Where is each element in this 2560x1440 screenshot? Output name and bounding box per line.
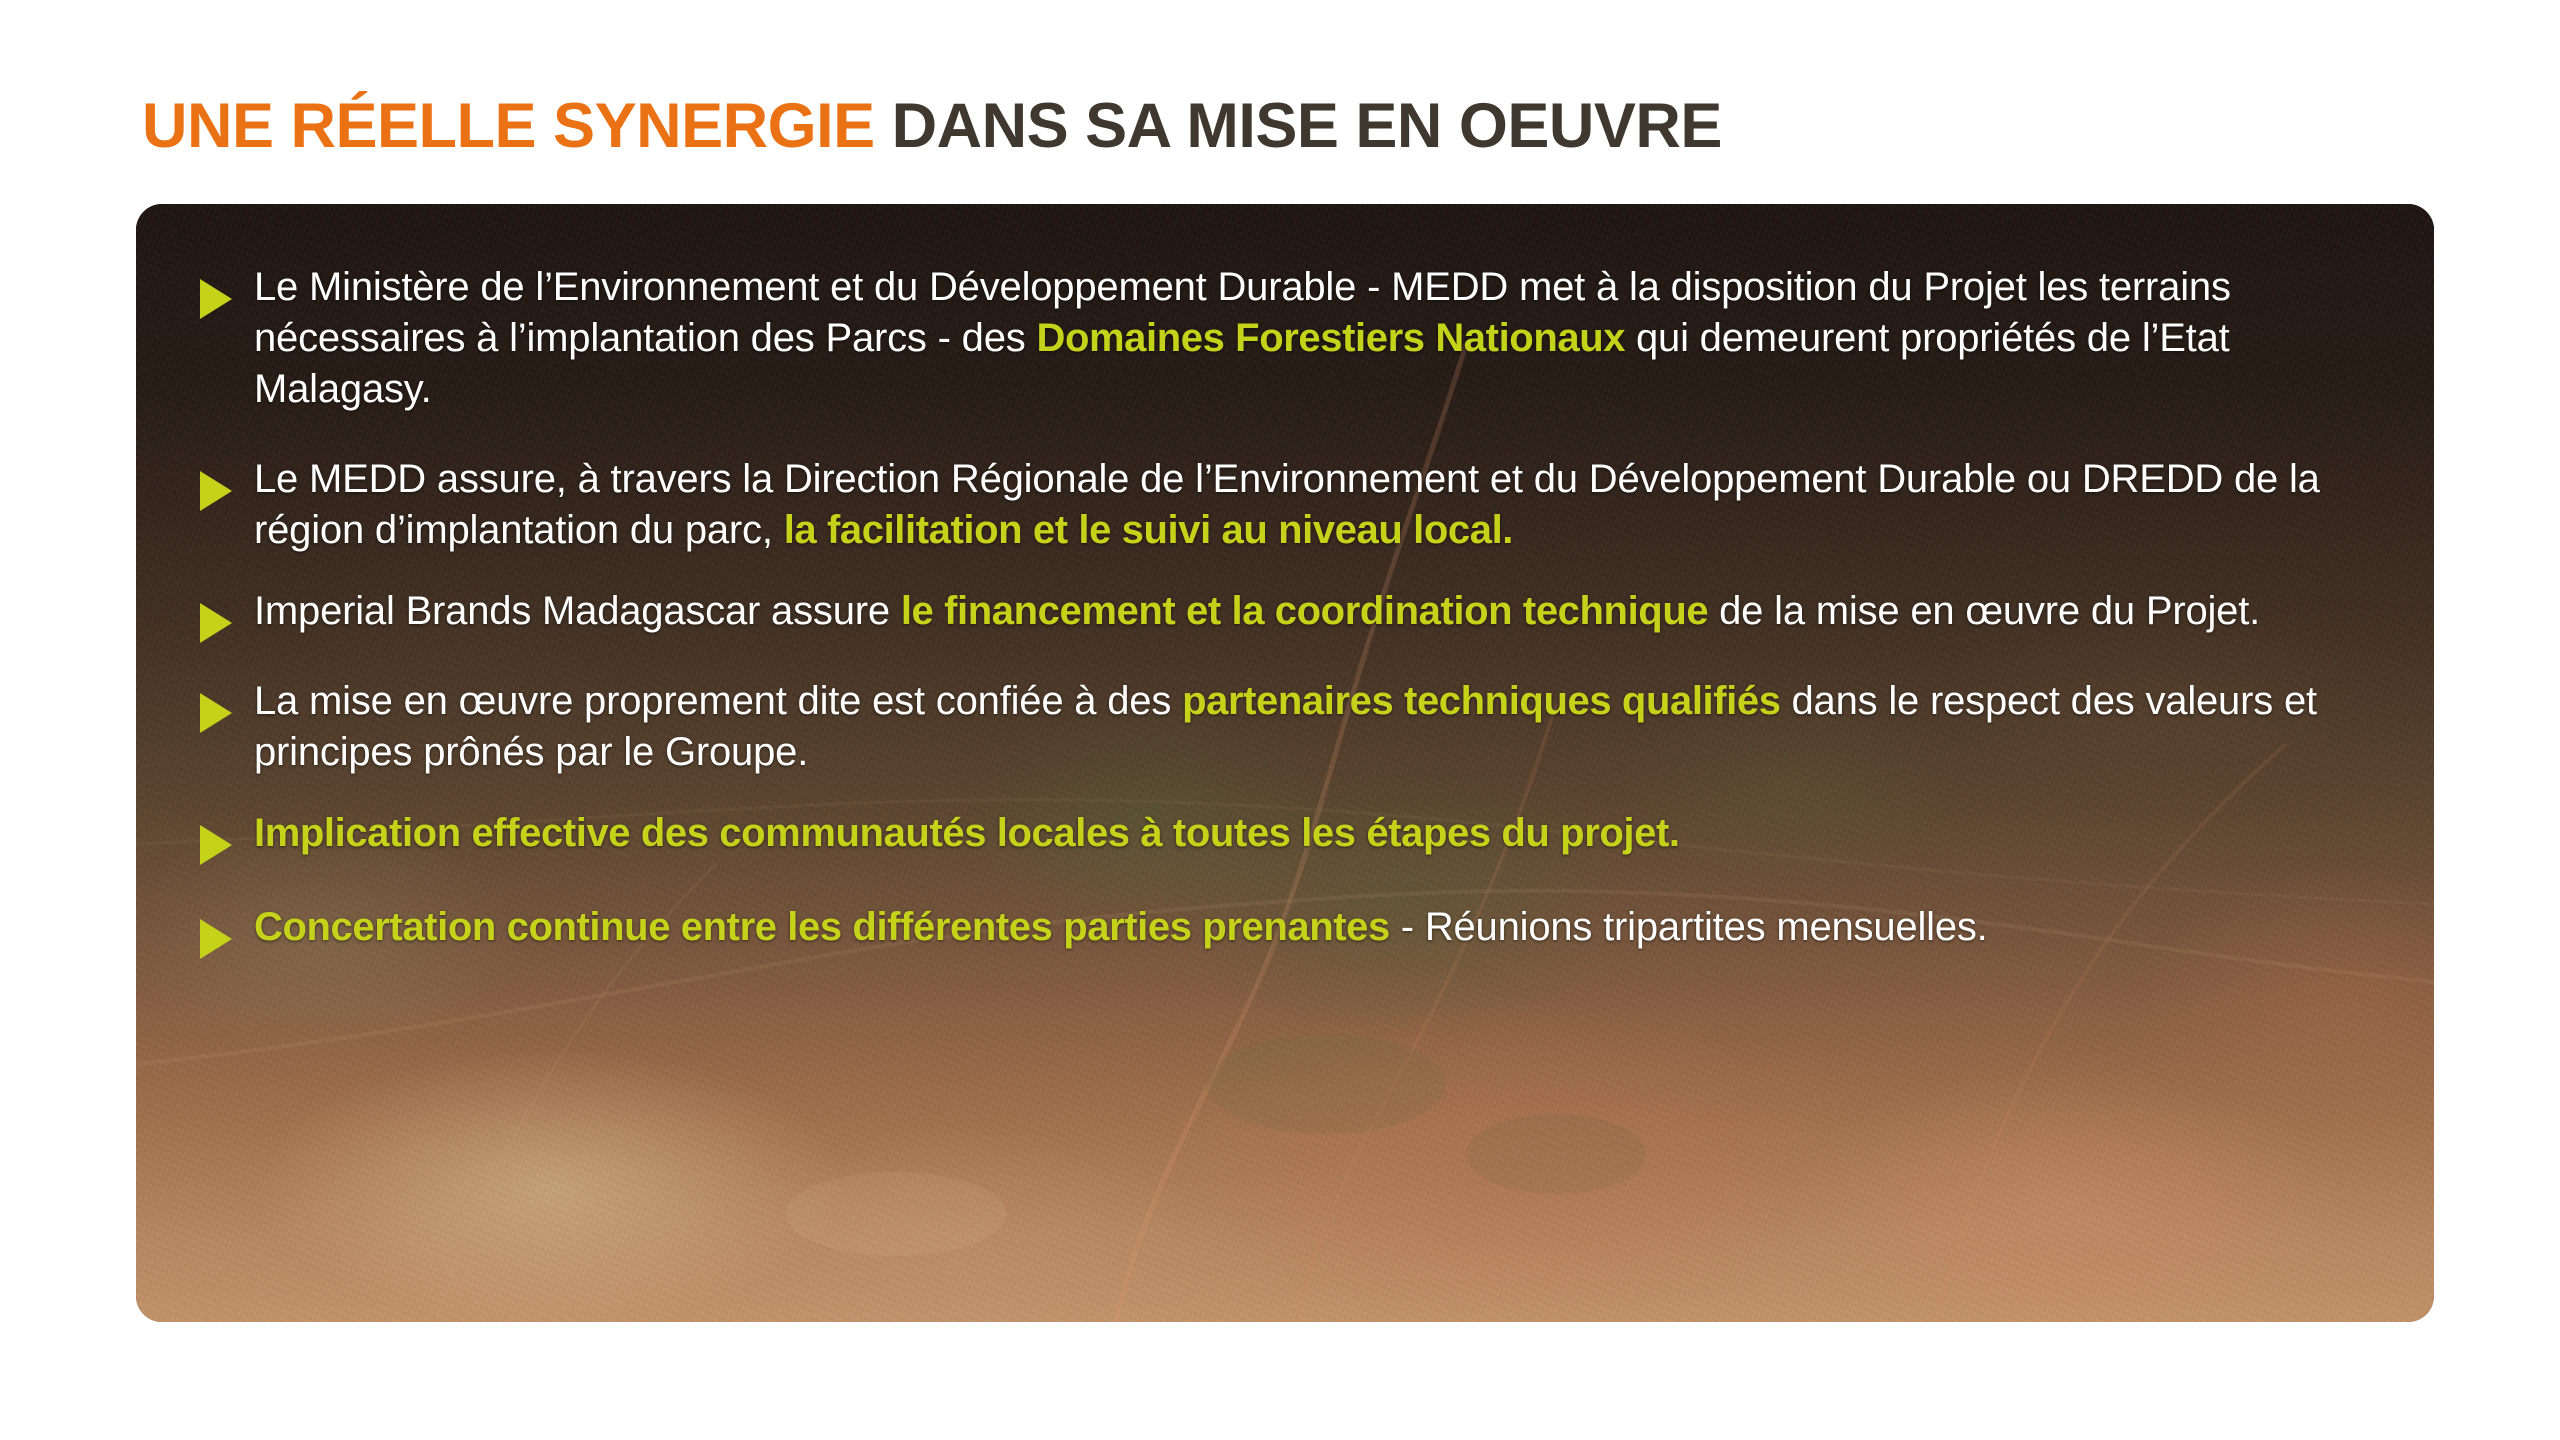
bullet-item: Le Ministère de l’Environnement et du Dé… [196,262,2364,416]
bullet-text: Le Ministère de l’Environnement et du Dé… [254,262,2364,416]
triangle-right-icon [196,690,240,736]
triangle-right-icon [196,822,240,868]
bullet-text: Imperial Brands Madagascar assure le fin… [254,586,2364,637]
bullet-item: Implication effective des communautés lo… [196,808,2364,868]
bullet-highlight-text: Implication effective des communautés lo… [254,811,1680,855]
bullet-highlight-text: le financement et la coordination techni… [901,589,1708,633]
bullet-text: La mise en œuvre proprement dite est con… [254,676,2364,778]
bullet-highlight-text: partenaires techniques qualifiés [1182,679,1781,723]
triangle-right-icon [196,468,240,514]
content-card: Le Ministère de l’Environnement et du Dé… [136,204,2434,1322]
bullet-plain-text: - Réunions tripartites mensuelles. [1390,905,1988,949]
bullet-highlight-text: la facilitation et le suivi au niveau lo… [784,508,1513,552]
bullet-item: Imperial Brands Madagascar assure le fin… [196,586,2364,646]
bullet-plain-text: La mise en œuvre proprement dite est con… [254,679,1182,723]
bullet-text: Le MEDD assure, à travers la Direction R… [254,454,2364,556]
bullet-text: Concertation continue entre les différen… [254,902,2364,953]
page-title-rest: DANS SA MISE EN OEUVRE [875,91,1722,161]
triangle-right-icon [196,916,240,962]
bullet-highlight-text: Domaines Forestiers Nationaux [1037,316,1626,360]
triangle-right-icon [196,600,240,646]
bullet-list: Le Ministère de l’Environnement et du Dé… [136,204,2434,1322]
bullet-item: Le MEDD assure, à travers la Direction R… [196,454,2364,556]
bullet-item: Concertation continue entre les différen… [196,902,2364,962]
bullet-plain-text: de la mise en œuvre du Projet. [1708,589,2260,633]
page-title: UNE RÉELLE SYNERGIE DANS SA MISE EN OEUV… [142,92,1722,161]
page-title-accent: UNE RÉELLE SYNERGIE [142,91,875,161]
bullet-text: Implication effective des communautés lo… [254,808,2364,859]
bullet-highlight-text: Concertation continue entre les différen… [254,905,1390,949]
bullet-plain-text: Imperial Brands Madagascar assure [254,589,901,633]
bullet-item: La mise en œuvre proprement dite est con… [196,676,2364,778]
triangle-right-icon [196,276,240,322]
